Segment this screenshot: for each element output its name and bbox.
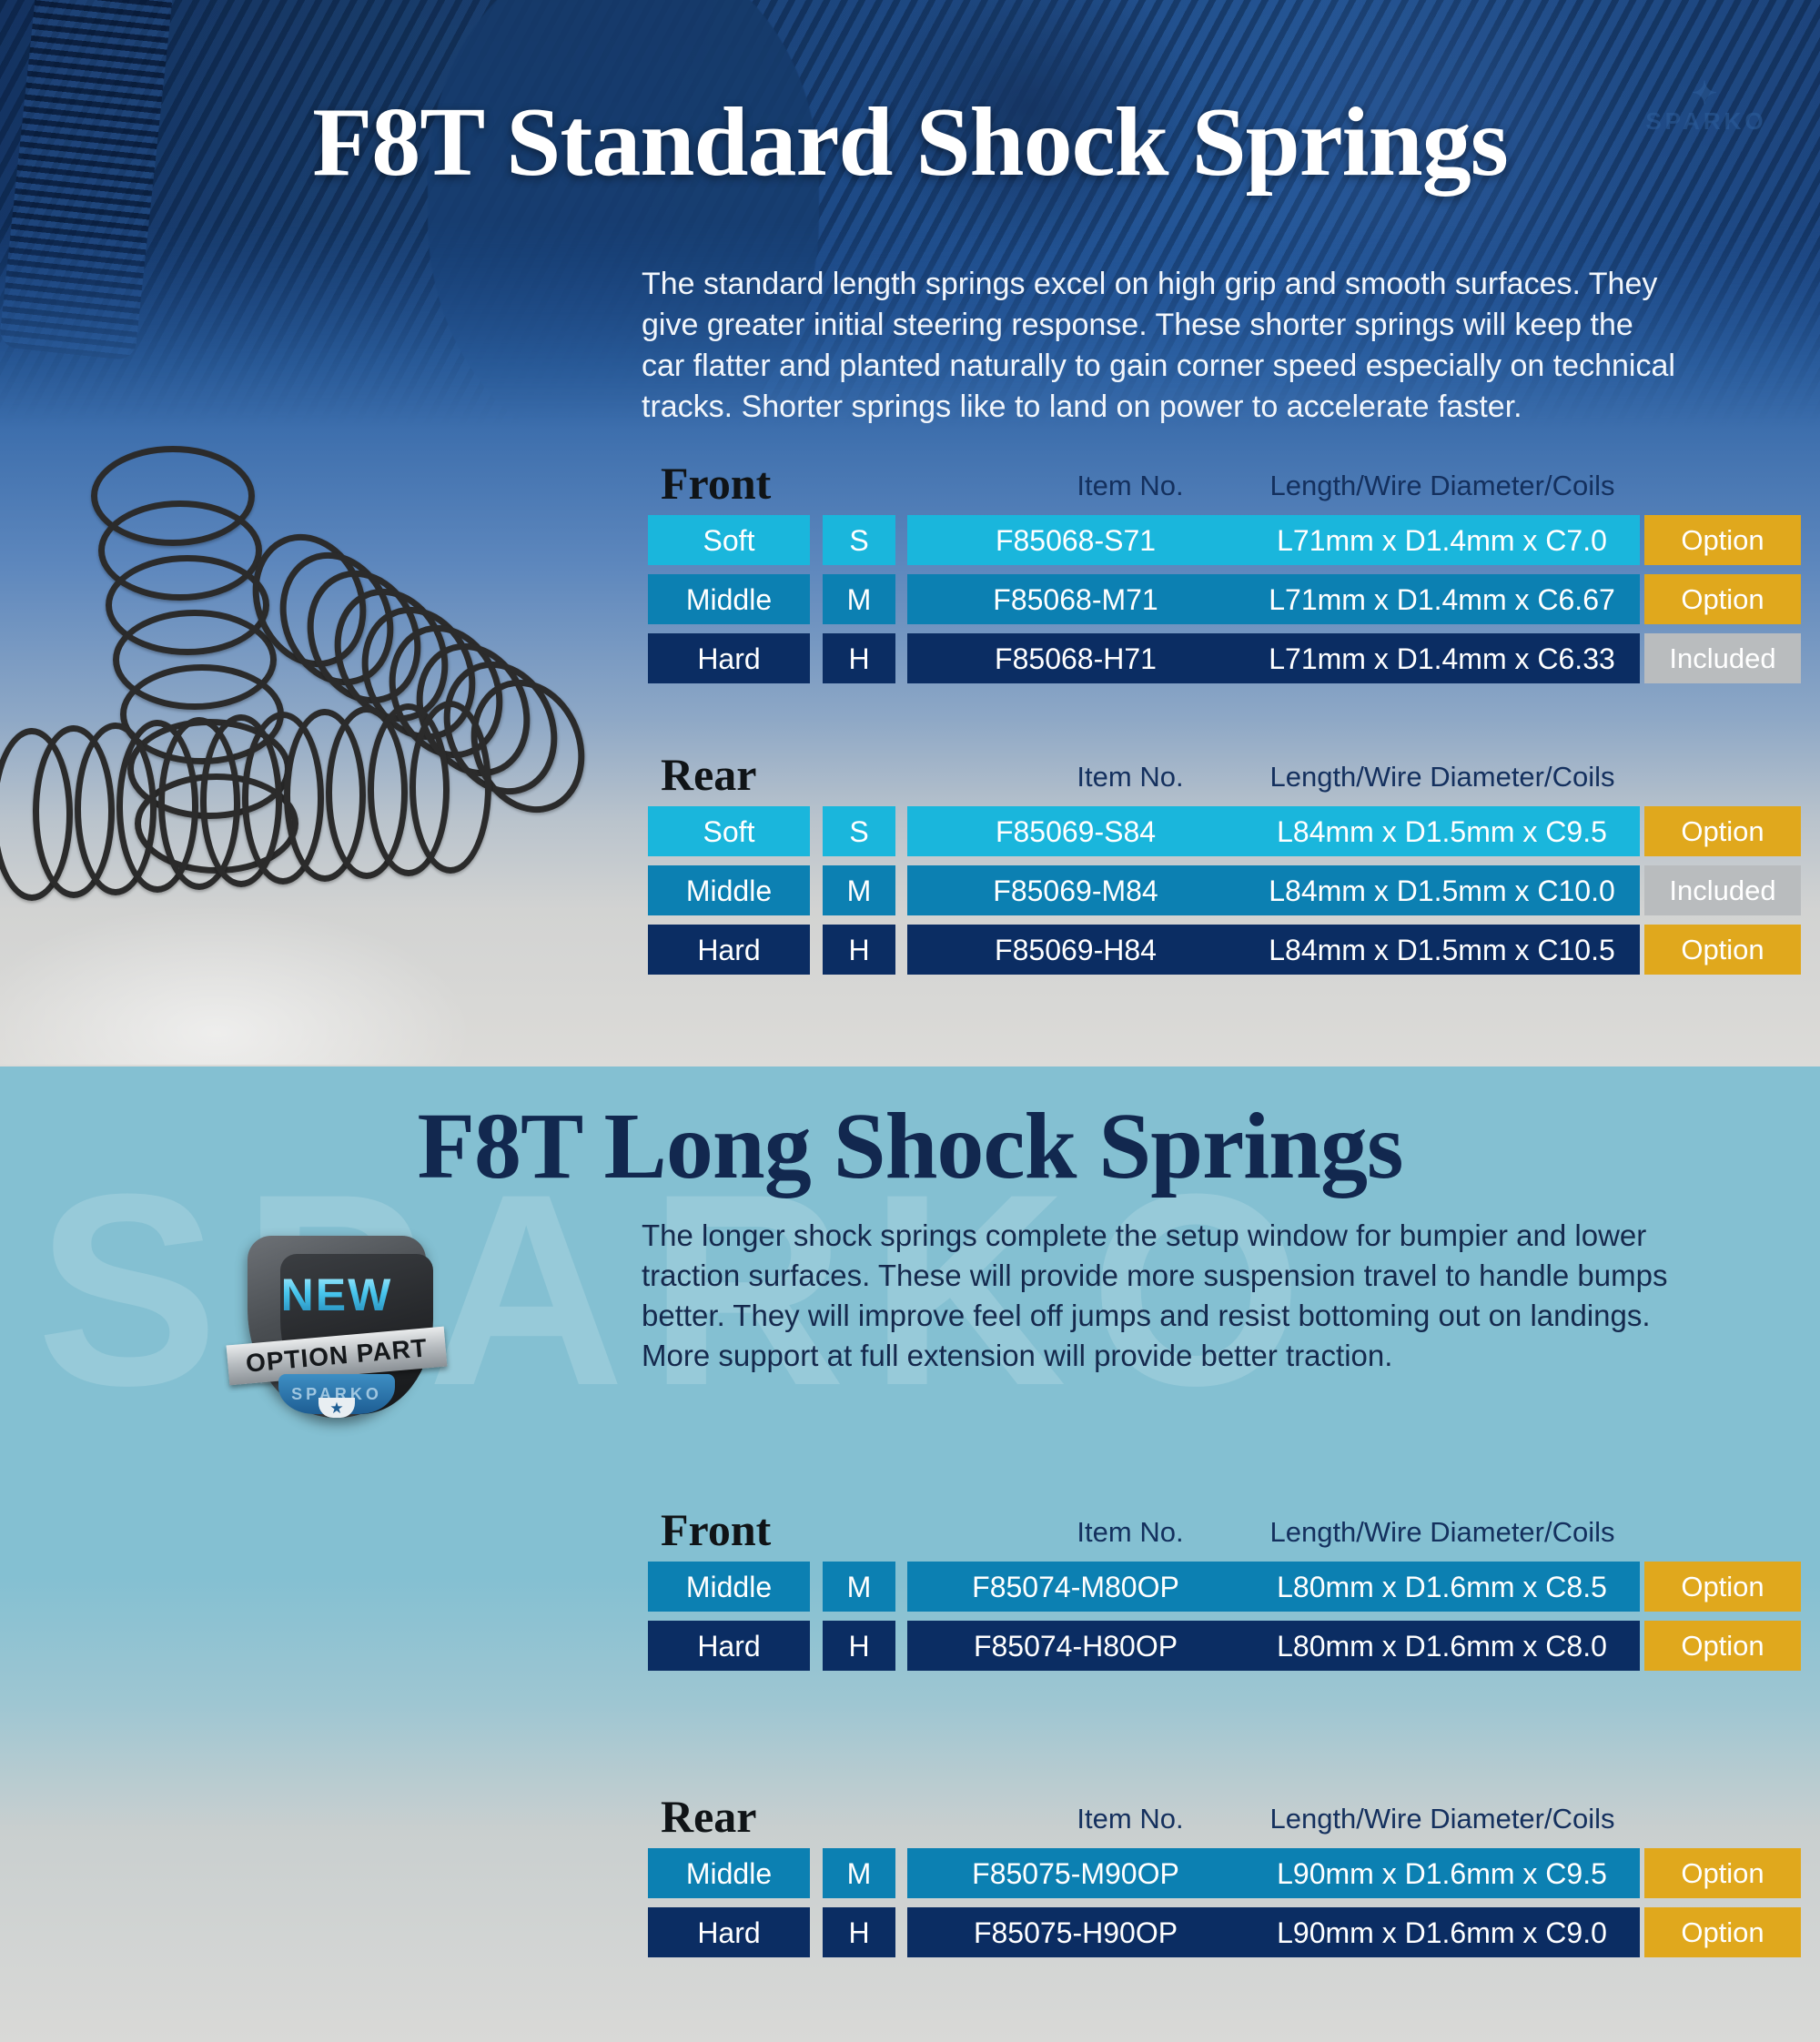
column-header-item-no: Item No. (1012, 761, 1249, 794)
cell-hardness-abbr: H (823, 1621, 895, 1671)
status-badge: Option (1644, 1848, 1801, 1898)
cell-hardness-name: Soft (648, 806, 810, 856)
cell-hardness-abbr: M (823, 574, 895, 624)
cell-item-no: F85075-H90OP (907, 1907, 1244, 1957)
cell-hardness-abbr: H (823, 1907, 895, 1957)
cell-spec: L71mm x D1.4mm x C6.67 (1244, 574, 1640, 624)
cell-spec: L80mm x D1.6mm x C8.0 (1244, 1621, 1640, 1671)
cell-spec: L90mm x D1.6mm x C9.0 (1244, 1907, 1640, 1957)
table-row[interactable]: Middle M F85075-M90OP L90mm x D1.6mm x C… (648, 1848, 1804, 1898)
cell-hardness-abbr: S (823, 806, 895, 856)
column-header-spec: Length/Wire Diameter/Coils (1238, 1516, 1647, 1549)
table-caption: Rear (661, 748, 757, 801)
table-header: Rear Item No. Length/Wire Diameter/Coils (648, 755, 1804, 806)
table-caption: Rear (661, 1790, 757, 1843)
cell-spec: L84mm x D1.5mm x C10.0 (1244, 865, 1640, 915)
table-caption: Front (661, 457, 771, 510)
cell-hardness-abbr: M (823, 865, 895, 915)
cell-item-no: F85068-M71 (907, 574, 1244, 624)
cell-item-no: F85069-S84 (907, 806, 1244, 856)
cell-spec: L80mm x D1.6mm x C8.5 (1244, 1562, 1640, 1612)
cell-hardness-name: Middle (648, 574, 810, 624)
product-spec-sheet: ✦ SPARKO F8T Standard Shock Springs The … (0, 0, 1820, 2042)
section-title-long: F8T Long Shock Springs (0, 1092, 1820, 1200)
cell-spec: L84mm x D1.5mm x C10.5 (1244, 925, 1640, 975)
cell-item-no: F85068-H71 (907, 633, 1244, 683)
status-badge: Option (1644, 925, 1801, 975)
cell-hardness-abbr: H (823, 633, 895, 683)
section-title-standard: F8T Standard Shock Springs (0, 86, 1820, 199)
cell-item-no: F85074-H80OP (907, 1621, 1244, 1671)
status-badge: Option (1644, 574, 1801, 624)
column-header-item-no: Item No. (1012, 470, 1249, 502)
table-long-front: Front Item No. Length/Wire Diameter/Coil… (648, 1511, 1804, 1680)
cell-hardness-name: Hard (648, 925, 810, 975)
badge-new-label: NEW (260, 1269, 413, 1321)
table-standard-front: Front Item No. Length/Wire Diameter/Coil… (648, 464, 1804, 692)
cell-hardness-abbr: M (823, 1562, 895, 1612)
status-badge: Option (1644, 806, 1801, 856)
cell-hardness-abbr: S (823, 515, 895, 565)
cell-hardness-name: Middle (648, 865, 810, 915)
cell-hardness-abbr: M (823, 1848, 895, 1898)
cell-hardness-name: Middle (648, 1848, 810, 1898)
standard-springs-photo (0, 428, 555, 1065)
new-option-part-badge: NEW OPTION PART SPARKO ★ (227, 1228, 446, 1424)
section-standard-shock-springs: ✦ SPARKO F8T Standard Shock Springs The … (0, 0, 1820, 1066)
status-badge: Option (1644, 515, 1801, 565)
status-badge: Option (1644, 1621, 1801, 1671)
cell-hardness-name: Soft (648, 515, 810, 565)
cell-spec: L71mm x D1.4mm x C7.0 (1244, 515, 1640, 565)
cell-item-no: F85069-M84 (907, 865, 1244, 915)
table-row[interactable]: Middle M F85068-M71 L71mm x D1.4mm x C6.… (648, 574, 1804, 624)
table-header: Front Item No. Length/Wire Diameter/Coil… (648, 464, 1804, 515)
status-badge: Option (1644, 1562, 1801, 1612)
cell-spec: L84mm x D1.5mm x C9.5 (1244, 806, 1640, 856)
table-row[interactable]: Hard H F85069-H84 L84mm x D1.5mm x C10.5… (648, 925, 1804, 975)
table-standard-rear: Rear Item No. Length/Wire Diameter/Coils… (648, 755, 1804, 984)
section-description-standard: The standard length springs excel on hig… (642, 264, 1679, 428)
cell-hardness-name: Middle (648, 1562, 810, 1612)
cell-hardness-name: Hard (648, 1621, 810, 1671)
table-header: Rear Item No. Length/Wire Diameter/Coils (648, 1797, 1804, 1848)
cell-item-no: F85075-M90OP (907, 1848, 1244, 1898)
column-header-spec: Length/Wire Diameter/Coils (1238, 470, 1647, 502)
table-row[interactable]: Soft S F85069-S84 L84mm x D1.5mm x C9.5 … (648, 806, 1804, 856)
cell-item-no: F85068-S71 (907, 515, 1244, 565)
cell-hardness-name: Hard (648, 633, 810, 683)
status-badge: Option (1644, 1907, 1801, 1957)
table-row[interactable]: Hard H F85068-H71 L71mm x D1.4mm x C6.33… (648, 633, 1804, 683)
table-row[interactable]: Middle M F85074-M80OP L80mm x D1.6mm x C… (648, 1562, 1804, 1612)
column-header-item-no: Item No. (1012, 1803, 1249, 1835)
status-badge: Included (1644, 633, 1801, 683)
column-header-spec: Length/Wire Diameter/Coils (1238, 1803, 1647, 1835)
section-description-long: The longer shock springs complete the se… (642, 1216, 1697, 1376)
table-caption: Front (661, 1503, 771, 1556)
cell-spec: L90mm x D1.6mm x C9.5 (1244, 1848, 1640, 1898)
table-row[interactable]: Soft S F85068-S71 L71mm x D1.4mm x C7.0 … (648, 515, 1804, 565)
table-long-rear: Rear Item No. Length/Wire Diameter/Coils… (648, 1797, 1804, 1966)
table-row[interactable]: Hard H F85075-H90OP L90mm x D1.6mm x C9.… (648, 1907, 1804, 1957)
cell-hardness-abbr: H (823, 925, 895, 975)
cell-item-no: F85069-H84 (907, 925, 1244, 975)
column-header-spec: Length/Wire Diameter/Coils (1238, 761, 1647, 794)
column-header-item-no: Item No. (1012, 1516, 1249, 1549)
status-badge: Included (1644, 865, 1801, 915)
cell-hardness-name: Hard (648, 1907, 810, 1957)
table-row[interactable]: Hard H F85074-H80OP L80mm x D1.6mm x C8.… (648, 1621, 1804, 1671)
table-header: Front Item No. Length/Wire Diameter/Coil… (648, 1511, 1804, 1562)
cell-item-no: F85074-M80OP (907, 1562, 1244, 1612)
table-row[interactable]: Middle M F85069-M84 L84mm x D1.5mm x C10… (648, 865, 1804, 915)
cell-spec: L71mm x D1.4mm x C6.33 (1244, 633, 1640, 683)
